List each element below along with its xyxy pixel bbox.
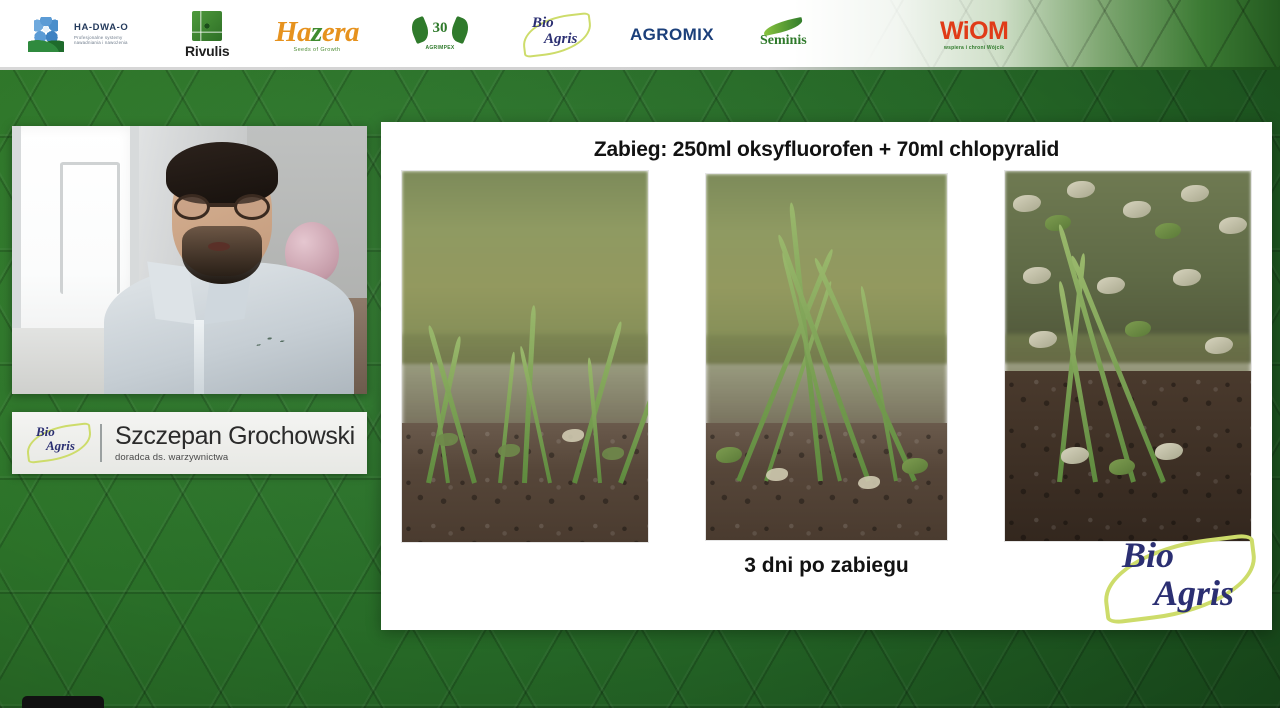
sponsor-agrimpex-tagline: AGRIMPEX — [425, 45, 454, 51]
sponsor-logo-row: HA-DWA-O Profesjonalne systemy nawadnian… — [0, 0, 1280, 69]
sponsor-bioagris-line2: Agris — [544, 31, 577, 48]
balcony-rail — [60, 162, 120, 294]
slide-photo-2 — [705, 173, 948, 541]
laurel-wreath-icon: 30 — [412, 18, 468, 44]
watermark-line1: Bio — [1122, 534, 1174, 576]
slide-title: Zabieg: 250ml oksyfluorofen + 70ml chlop… — [381, 138, 1272, 162]
nameplate-divider — [100, 424, 102, 462]
presentation-slide[interactable]: Zabieg: 250ml oksyfluorofen + 70ml chlop… — [381, 122, 1272, 630]
flower-icon — [26, 15, 66, 55]
sponsor-rivulis-title: Rivulis — [185, 43, 230, 59]
sponsor-hadwao-title: HA-DWA-O — [74, 23, 128, 33]
sponsor-header-bar: HA-DWA-O Profesjonalne systemy nawadnian… — [0, 0, 1280, 69]
slide-photo-row — [401, 170, 1252, 548]
taskbar-handle[interactable] — [22, 696, 104, 708]
nameplate-bioagris-logo: Bio Agris — [24, 421, 96, 465]
shirt-placket — [194, 320, 204, 394]
speaker-role: doradca ds. warzywnictwa — [115, 452, 355, 463]
slide-watermark-bioagris: Bio Agris — [1096, 528, 1266, 628]
speaker-beard — [182, 226, 262, 284]
sponsor-hazera-title: Hazera — [275, 16, 359, 49]
speaker-nameplate: Bio Agris Szczepan Grochowski doradca ds… — [12, 412, 367, 474]
watermark-line2: Agris — [1154, 572, 1234, 614]
nameplate-logo-line2: Agris — [46, 438, 75, 454]
sponsor-logo-wiom[interactable]: WiOM wspiera i chroni Wójcik — [940, 0, 1008, 69]
sponsor-wiom-title: WiOM — [940, 19, 1008, 44]
header-divider — [0, 67, 1280, 70]
sponsor-logo-hazera[interactable]: Hazera Seeds of Growth — [275, 0, 359, 69]
slide-photo-1 — [401, 170, 649, 543]
speaker-mouth — [208, 242, 230, 251]
slide-photo-3 — [1004, 170, 1252, 542]
square-drip-icon — [192, 11, 222, 41]
sponsor-logo-seminis[interactable]: Seminis — [760, 0, 807, 69]
sponsor-logo-agrimpex[interactable]: 30 AGRIMPEX — [412, 0, 468, 69]
sponsor-logo-rivulis[interactable]: Rivulis — [185, 0, 230, 69]
sponsor-agromix-title: AGROMIX — [630, 25, 714, 45]
speaker-name: Szczepan Grochowski — [115, 423, 355, 449]
sponsor-wiom-tagline: wspiera i chroni Wójcik — [944, 45, 1004, 51]
sponsor-logo-bioagris[interactable]: Bio Agris — [520, 0, 594, 69]
sponsor-hadwao-sub2: nawadniania i nawożenia — [74, 41, 128, 46]
speaker-video-panel[interactable] — [12, 126, 367, 394]
sponsor-agrimpex-title: 30 — [412, 20, 468, 37]
sponsor-logo-agromix[interactable]: AGROMIX — [630, 0, 714, 69]
glasses-icon — [174, 194, 270, 220]
leaf-oval-icon: Bio Agris — [520, 12, 594, 58]
sponsor-logo-hadwao[interactable]: HA-DWA-O Profesjonalne systemy nawadnian… — [26, 0, 128, 69]
sponsor-hazera-tagline: Seeds of Growth — [294, 47, 341, 53]
sponsor-bioagris-line1: Bio — [532, 15, 554, 32]
